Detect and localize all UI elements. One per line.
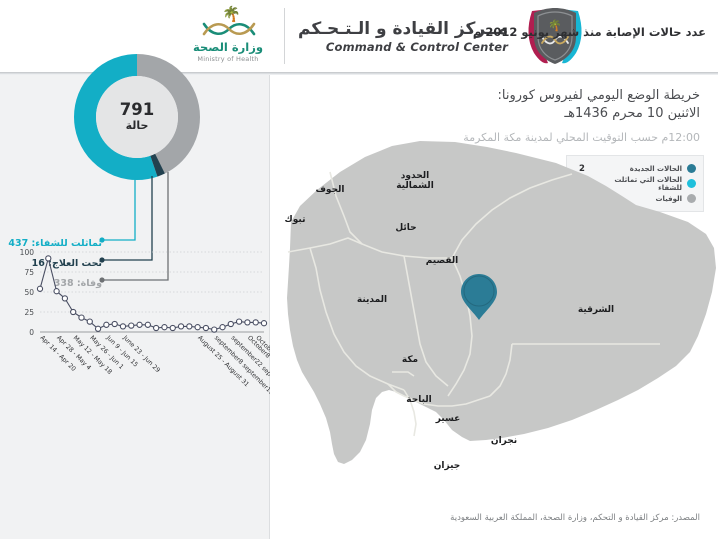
region-label-makkah: مكة (402, 355, 418, 365)
data-point (46, 256, 51, 261)
data-point (95, 326, 100, 331)
region-label-madinah: المدينة (357, 295, 387, 305)
data-point (112, 321, 117, 326)
data-point (187, 324, 192, 329)
leader-line-recovered (103, 178, 135, 240)
data-point (104, 322, 109, 327)
northern-borders-line2: الشمالية (396, 181, 434, 191)
region-label-eastern: الشرقية (578, 305, 614, 315)
moh-name-arabic: وزارة الصحة (193, 40, 263, 54)
y-axis-tick-0: 0 (29, 328, 34, 337)
data-point (54, 289, 59, 294)
region-label-tabuk: تبوك (285, 215, 306, 225)
data-point (245, 320, 250, 325)
moh-emblem-icon: 🌴 (196, 9, 260, 39)
region-label-albaha: الباحة (406, 395, 431, 405)
northern-borders-line1: الحدود (401, 171, 429, 181)
data-point (261, 321, 266, 326)
data-point (87, 319, 92, 324)
region-label-aljouf: الجوف (315, 185, 344, 195)
region-label-northern-borders: الحدود الشمالية (396, 171, 434, 191)
data-point (220, 325, 225, 330)
data-point (178, 324, 183, 329)
data-point (37, 286, 42, 291)
data-point (203, 325, 208, 330)
region-label-hail: حائل (395, 223, 416, 233)
weekly-cases-line-chart: 0255075100Apr 14 - Apr 20Apr 28 - May 4M… (0, 240, 270, 440)
data-point (162, 325, 167, 330)
data-point (154, 325, 159, 330)
data-point (253, 320, 258, 325)
cases-donut-chart: 791 حالة (72, 52, 202, 182)
crossed-swords-icon (202, 20, 256, 38)
data-point (145, 322, 150, 327)
data-point (137, 322, 142, 327)
cumulative-cases-title: عدد حالات الإصابة منذ شهر يونيو 2012 م (458, 25, 706, 40)
source-note: المصدر: مركز القيادة و التحكم، وزارة الص… (300, 513, 700, 523)
data-point (120, 324, 125, 329)
donut-hole (96, 76, 178, 158)
region-label-asir: عسير (436, 414, 461, 424)
y-axis-tick-50: 50 (24, 288, 34, 297)
ccc-name-english: Command & Control Center (298, 40, 508, 54)
moh-name-english: Ministry of Health (197, 55, 258, 63)
saudi-arabia-map: 2 الرياض الجوف تبوك الحدود الشمالية حائل… (270, 103, 718, 539)
data-point (129, 323, 134, 328)
data-point (237, 319, 242, 324)
y-axis-tick-100: 100 (20, 248, 35, 257)
line-series-weekly-cases (40, 258, 264, 329)
dashboard-root: 🌴 وزارة الصحة Ministry of Health مــركز … (0, 0, 718, 539)
data-point (71, 309, 76, 314)
data-point (62, 296, 67, 301)
map-panel: خريطة الوضع اليومي لفيروس كورونا: الاثني… (270, 75, 718, 539)
data-point (212, 327, 217, 332)
data-point (195, 325, 200, 330)
data-point (79, 315, 84, 320)
header-divider (284, 8, 285, 64)
region-label-qassim: القصيم (426, 256, 459, 266)
map-country-shape (287, 141, 716, 464)
region-label-najran: نجران (491, 436, 517, 446)
data-point (228, 321, 233, 326)
y-axis-tick-25: 25 (24, 308, 34, 317)
data-point (170, 325, 175, 330)
region-label-jazan: جيزان (434, 461, 461, 471)
y-axis-tick-75: 75 (24, 268, 34, 277)
